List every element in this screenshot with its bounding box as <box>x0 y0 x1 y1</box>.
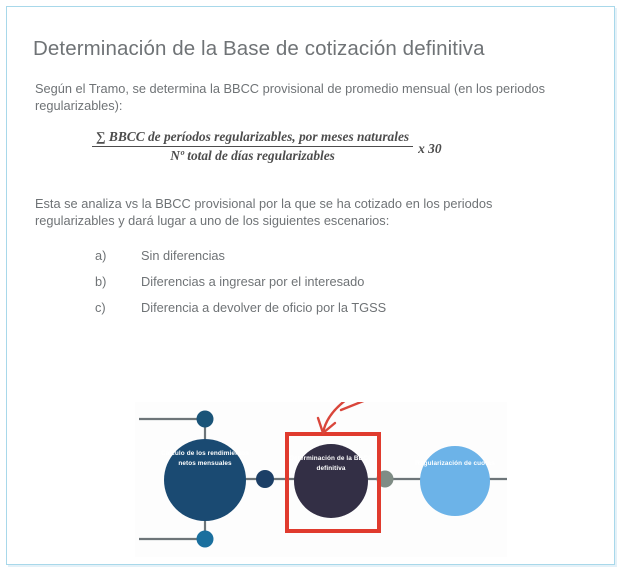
annotation-arrow-icon <box>318 402 376 433</box>
slide-canvas: Determinación de la Base de cotización d… <box>6 6 615 565</box>
diagram-node-determinacion-bbcc <box>294 444 368 518</box>
diagram-node-calculo-rendimientos <box>164 439 246 521</box>
formula-numerator: ∑ BBCC de períodos regularizables, por m… <box>92 129 413 146</box>
scenario-list: a) Sin diferencias b) Diferencias a ingr… <box>95 243 555 321</box>
fraction: ∑ BBCC de períodos regularizables, por m… <box>92 129 413 164</box>
list-item-label: Diferencia a devolver de oficio por la T… <box>141 295 386 321</box>
analysis-paragraph: Esta se analiza vs la BBCC provisional p… <box>35 195 555 229</box>
list-item-label: Diferencias a ingresar por el interesado <box>141 269 364 295</box>
formula-multiplier: x 30 <box>418 137 441 157</box>
connector-dot-top-left <box>197 411 214 428</box>
list-item: a) Sin diferencias <box>95 243 555 269</box>
formula-block: ∑ BBCC de períodos regularizables, por m… <box>92 129 442 164</box>
list-item-marker: b) <box>95 269 141 295</box>
intro-paragraph: Según el Tramo, se determina la BBCC pro… <box>35 80 555 114</box>
list-item-label: Sin diferencias <box>141 243 225 269</box>
connector-dot-middle <box>256 470 274 488</box>
page-title: Determinación de la Base de cotización d… <box>33 37 485 61</box>
diagram-node-regularizacion-cuotas <box>420 446 490 516</box>
list-item: b) Diferencias a ingresar por el interes… <box>95 269 555 295</box>
list-item: c) Diferencia a devolver de oficio por l… <box>95 295 555 321</box>
list-item-marker: a) <box>95 243 141 269</box>
connector-dot-bottom-left <box>197 531 214 548</box>
list-item-marker: c) <box>95 295 141 321</box>
process-diagram: Cálculo de los rendimientos netos mensua… <box>135 402 507 557</box>
formula-denominator: Nº total de días regularizables <box>166 147 339 164</box>
